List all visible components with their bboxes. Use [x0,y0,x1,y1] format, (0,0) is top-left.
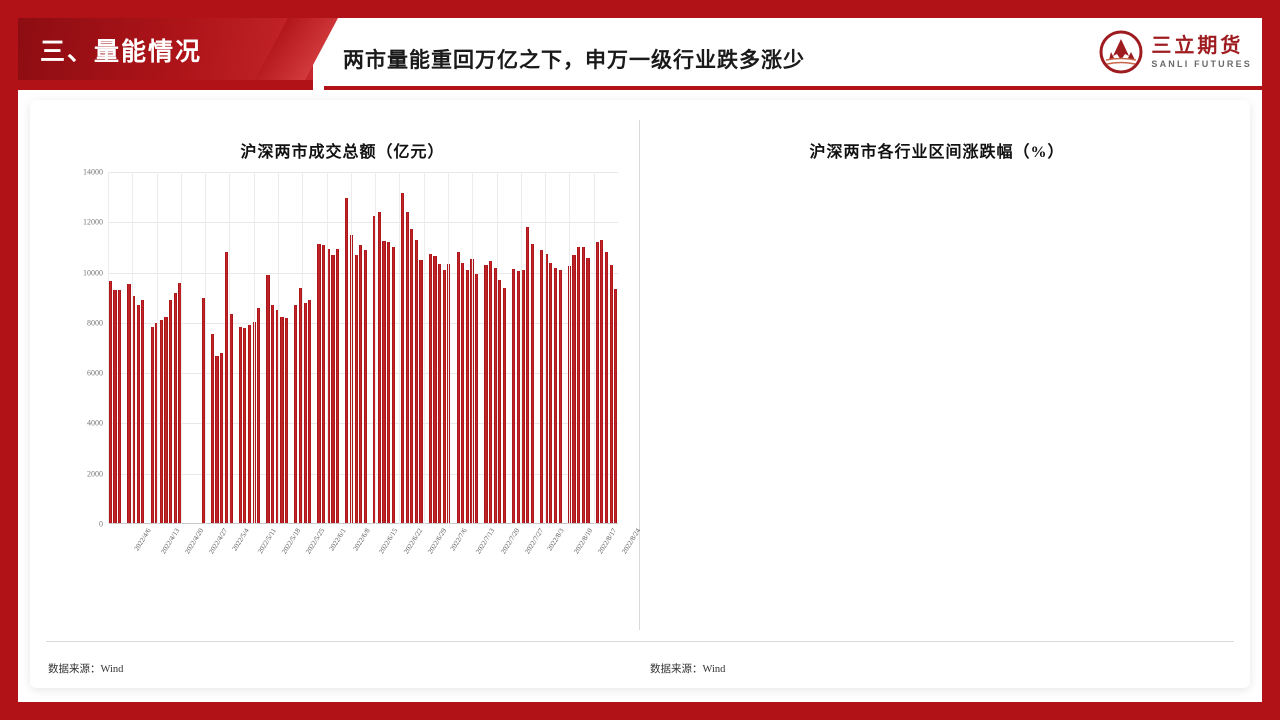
bar [109,281,112,524]
bar [359,245,362,524]
bar [215,356,218,524]
gridline-horizontal [108,222,618,223]
gridline-vertical [229,172,230,524]
bar [517,271,520,524]
bar [433,256,436,524]
bar [521,270,524,524]
right-chart-title: 沪深两市各行业区间涨跌幅（%） [640,138,1234,162]
x-axis-tick-label: 2022/4/20 [183,527,205,555]
x-axis-line [108,523,618,524]
bar [304,303,307,524]
bar [605,252,608,524]
bar [141,300,144,524]
bar [164,317,167,524]
bar [355,255,358,524]
bar [127,284,130,524]
bar [540,250,543,524]
slide-root: 三、量能情况 两市量能重回万亿之下，申万一级行业跌多涨少 三立期货 SANLI … [0,0,1280,720]
gridline-vertical [108,172,109,524]
bar [600,240,603,524]
bar [169,300,172,524]
y-axis-tick-label: 8000 [87,318,103,327]
bar [610,265,613,524]
bar [438,264,441,524]
gridline-vertical [521,172,522,524]
bar [406,212,409,524]
bar [113,290,116,524]
gridline-vertical [375,172,376,524]
gridline-vertical [254,172,255,524]
bar [294,305,297,524]
frame-border-top [0,0,1280,18]
gridline-vertical [399,172,400,524]
gridline-vertical [302,172,303,524]
bar [498,280,501,524]
gridline-vertical [448,172,449,524]
bar [220,353,223,524]
bar [512,269,515,524]
bar [225,252,228,524]
bar [266,275,269,524]
bar [443,270,446,524]
x-axis-tick-label: 2022/5/11 [256,527,278,555]
x-axis-tick-label: 2022/7/20 [499,527,521,555]
bar [243,328,246,524]
right-data-source: 数据来源：Wind [650,661,725,676]
bar [239,327,242,524]
x-axis-tick-label: 2022/8/17 [596,527,618,555]
bar [317,244,320,524]
source-divider [46,641,1234,642]
brand-logo-text: 三立期货 SANLI FUTURES [1151,36,1252,69]
bar [392,247,395,524]
bar [457,252,460,524]
x-axis-tick-label: 2022/5/25 [305,527,327,555]
x-axis-tick-label: 2022/8/24 [620,527,642,555]
bar [336,249,339,524]
y-axis-tick-label: 0 [99,520,103,529]
header-rule [324,86,1274,90]
left-data-source: 数据来源：Wind [48,661,123,676]
x-axis-tick-label: 2022/8/3 [546,527,566,552]
y-axis-tick-label: 6000 [87,369,103,378]
section-label: 三、量能情况 [40,32,202,68]
x-axis-tick-label: 2022/4/27 [208,527,230,555]
bar [559,270,562,524]
bar [531,244,534,524]
bar [331,255,334,524]
bar [577,247,580,524]
bar [484,265,487,524]
x-axis-tick-label: 2022/8/10 [572,527,594,555]
bar [387,242,390,524]
bar [382,241,385,524]
gridline-vertical [157,172,158,524]
bar [503,288,506,524]
content-card: 沪深两市成交总额（亿元） 020004000600080001000012000… [30,100,1250,688]
gridline-vertical [327,172,328,524]
bar [526,227,529,524]
frame-border-bottom [0,702,1280,720]
bar [211,334,214,524]
gridline-vertical [181,172,182,524]
left-chart-panel: 沪深两市成交总额（亿元） 020004000600080001000012000… [46,120,640,630]
bar [322,245,325,524]
brand-name-cn: 三立期货 [1151,36,1252,57]
brand-name-en: SANLI FUTURES [1151,59,1252,69]
bar [429,254,432,524]
bar [345,198,348,524]
gridline-vertical [351,172,352,524]
bar [160,320,163,524]
bar [285,318,288,524]
gridline-vertical [545,172,546,524]
y-axis-tick-label: 14000 [83,168,103,177]
bar [248,325,251,524]
gridline-vertical [132,172,133,524]
bar [271,305,274,524]
y-axis-tick-label: 12000 [83,218,103,227]
frame-corner-topright [1262,0,1280,18]
bar [614,289,617,524]
bar [174,293,177,524]
y-axis-tick-label: 4000 [87,419,103,428]
bar [586,258,589,525]
gridline-vertical [278,172,279,524]
section-tab-underline [18,80,313,90]
bar [137,305,140,524]
bar [419,260,422,524]
x-axis-tick-label: 2022/7/13 [475,527,497,555]
frame-border-right [1262,0,1280,720]
x-axis-tick-label: 2022/4/13 [159,527,181,555]
bar [582,247,585,524]
gridline-vertical [472,172,473,524]
gridline-vertical [569,172,570,524]
page-title: 两市量能重回万亿之下，申万一级行业跌多涨少 [343,44,805,74]
bar [475,274,478,524]
gridline-vertical [594,172,595,524]
y-axis-tick-label: 2000 [87,469,103,478]
x-axis-tick-label: 2022/7/27 [523,527,545,555]
brand-logo: 三立期货 SANLI FUTURES [1099,30,1252,74]
mountain-circle-logo-icon [1099,30,1143,74]
bar [378,212,381,524]
x-axis-tick-label: 2022/6/8 [352,527,372,552]
x-axis-tick-label: 2022/6/22 [402,527,424,555]
bar [572,255,575,524]
bar [151,327,154,524]
gridline-horizontal [108,172,618,173]
x-axis-tick-label: 2022/4/6 [133,527,153,552]
bar [596,242,599,524]
bar [118,290,121,524]
bar [415,240,418,524]
right-chart-panel: 沪深两市各行业区间涨跌幅（%） [640,120,1234,630]
bar [554,268,557,524]
bar [364,250,367,524]
x-axis-tick-label: 2022/6/29 [426,527,448,555]
x-axis-tick-label: 2022/5/18 [280,527,302,555]
left-chart-title: 沪深两市成交总额（亿元） [46,138,639,162]
gridline-vertical [424,172,425,524]
bar [401,193,404,524]
bar [461,263,464,524]
x-axis-tick-label: 2022/6/15 [378,527,400,555]
gridline-vertical [497,172,498,524]
bar [466,270,469,524]
left-chart-plot-area: 020004000600080001000012000140002022/4/6… [108,172,618,524]
slide-header: 三、量能情况 两市量能重回万亿之下，申万一级行业跌多涨少 三立期货 SANLI … [18,18,1262,90]
bar [308,300,311,524]
x-axis-tick-label: 2022/6/1 [327,527,347,552]
bar [280,317,283,524]
bar [410,229,413,524]
gridline-vertical [205,172,206,524]
bar [489,261,492,524]
x-axis-tick-label: 2022/5/4 [230,527,250,552]
frame-border-left [0,0,18,720]
bar [257,308,260,524]
bar [549,263,552,524]
charts-row: 沪深两市成交总额（亿元） 020004000600080001000012000… [46,120,1234,630]
y-axis-tick-label: 10000 [83,268,103,277]
x-axis-tick-label: 2022/7/6 [449,527,469,552]
